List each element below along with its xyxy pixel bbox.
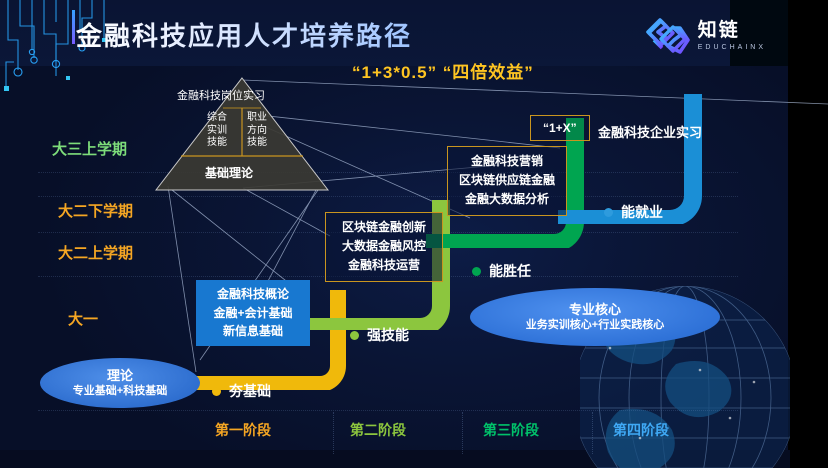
ellipse-subtitle: 业务实训核心+行业实践核心	[526, 318, 664, 332]
stage-label-1: 第一阶段	[215, 420, 271, 440]
outcome-label: 夯基础	[229, 381, 271, 401]
pyramid-base-label: 基础理论	[205, 164, 253, 181]
bullet-dot-icon	[604, 208, 613, 217]
theory-ellipse[interactable]: 理论 专业基础+科技基础	[40, 358, 200, 408]
semester-label-4: 大一	[68, 308, 98, 329]
course-line: 金融科技概论	[205, 285, 301, 304]
course-line: 区块链供应链金融	[457, 171, 557, 190]
stage-label-3: 第三阶段	[483, 420, 539, 440]
course-box-stage-3[interactable]: 金融科技营销 区块链供应链金融 金融大数据分析	[447, 146, 567, 216]
course-line: 金融科技运营	[335, 256, 433, 275]
pyramid-cap-label: 金融科技岗位实习	[177, 87, 265, 103]
course-box-stage-1[interactable]: 金融科技概论 金融+会计基础 新信息基础	[196, 280, 310, 346]
ellipse-subtitle: 专业基础+科技基础	[73, 384, 167, 398]
course-line: 金融大数据分析	[457, 190, 557, 209]
bullet-dot-icon	[350, 331, 359, 340]
bullet-dot-icon	[472, 267, 481, 276]
course-line: 金融科技营销	[457, 152, 557, 171]
course-line: 区块链金融创新	[335, 218, 433, 237]
pyramid-mid-left-label: 综合实训技能	[207, 112, 227, 150]
outcome-bullet-3: 能胜任	[472, 261, 531, 281]
ellipse-title: 专业核心	[569, 302, 621, 318]
slide-canvas: 金融科技应用人才培养路径 “1+3*0.5” “四倍效益” 知链 EDU	[0, 0, 828, 468]
semester-label-2: 大二下学期	[58, 200, 133, 221]
semester-label-1: 大三上学期	[52, 138, 127, 159]
stage-label-4: 第四阶段	[613, 420, 669, 440]
core-ellipse[interactable]: 专业核心 业务实训核心+行业实践核心	[470, 288, 720, 346]
course-line: 新信息基础	[205, 322, 301, 341]
outcome-label: 强技能	[367, 325, 409, 345]
outcome-label: 能胜任	[489, 261, 531, 281]
course-line: 金融+会计基础	[205, 304, 301, 323]
ellipse-title: 理论	[107, 368, 133, 384]
outcome-bullet-2: 强技能	[350, 325, 409, 345]
one-plus-x-tag[interactable]: “1+X”	[530, 115, 590, 141]
course-line: 大数据金融风控	[335, 237, 433, 256]
outcome-label: 能就业	[621, 202, 663, 222]
stage-label-2: 第二阶段	[350, 420, 406, 440]
outcome-bullet-4: 能就业	[604, 202, 663, 222]
bullet-dot-icon	[212, 387, 221, 396]
course-box-stage-2[interactable]: 区块链金融创新 大数据金融风控 金融科技运营	[325, 212, 443, 282]
pyramid-mid-right-label: 职业方向技能	[247, 112, 267, 150]
internship-label: 金融科技企业实习	[598, 122, 702, 141]
outcome-bullet-1: 夯基础	[212, 381, 271, 401]
semester-label-3: 大二上学期	[58, 242, 133, 263]
competency-pyramid: 金融科技岗位实习 综合实训技能 职业方向技能 基础理论	[155, 76, 330, 192]
